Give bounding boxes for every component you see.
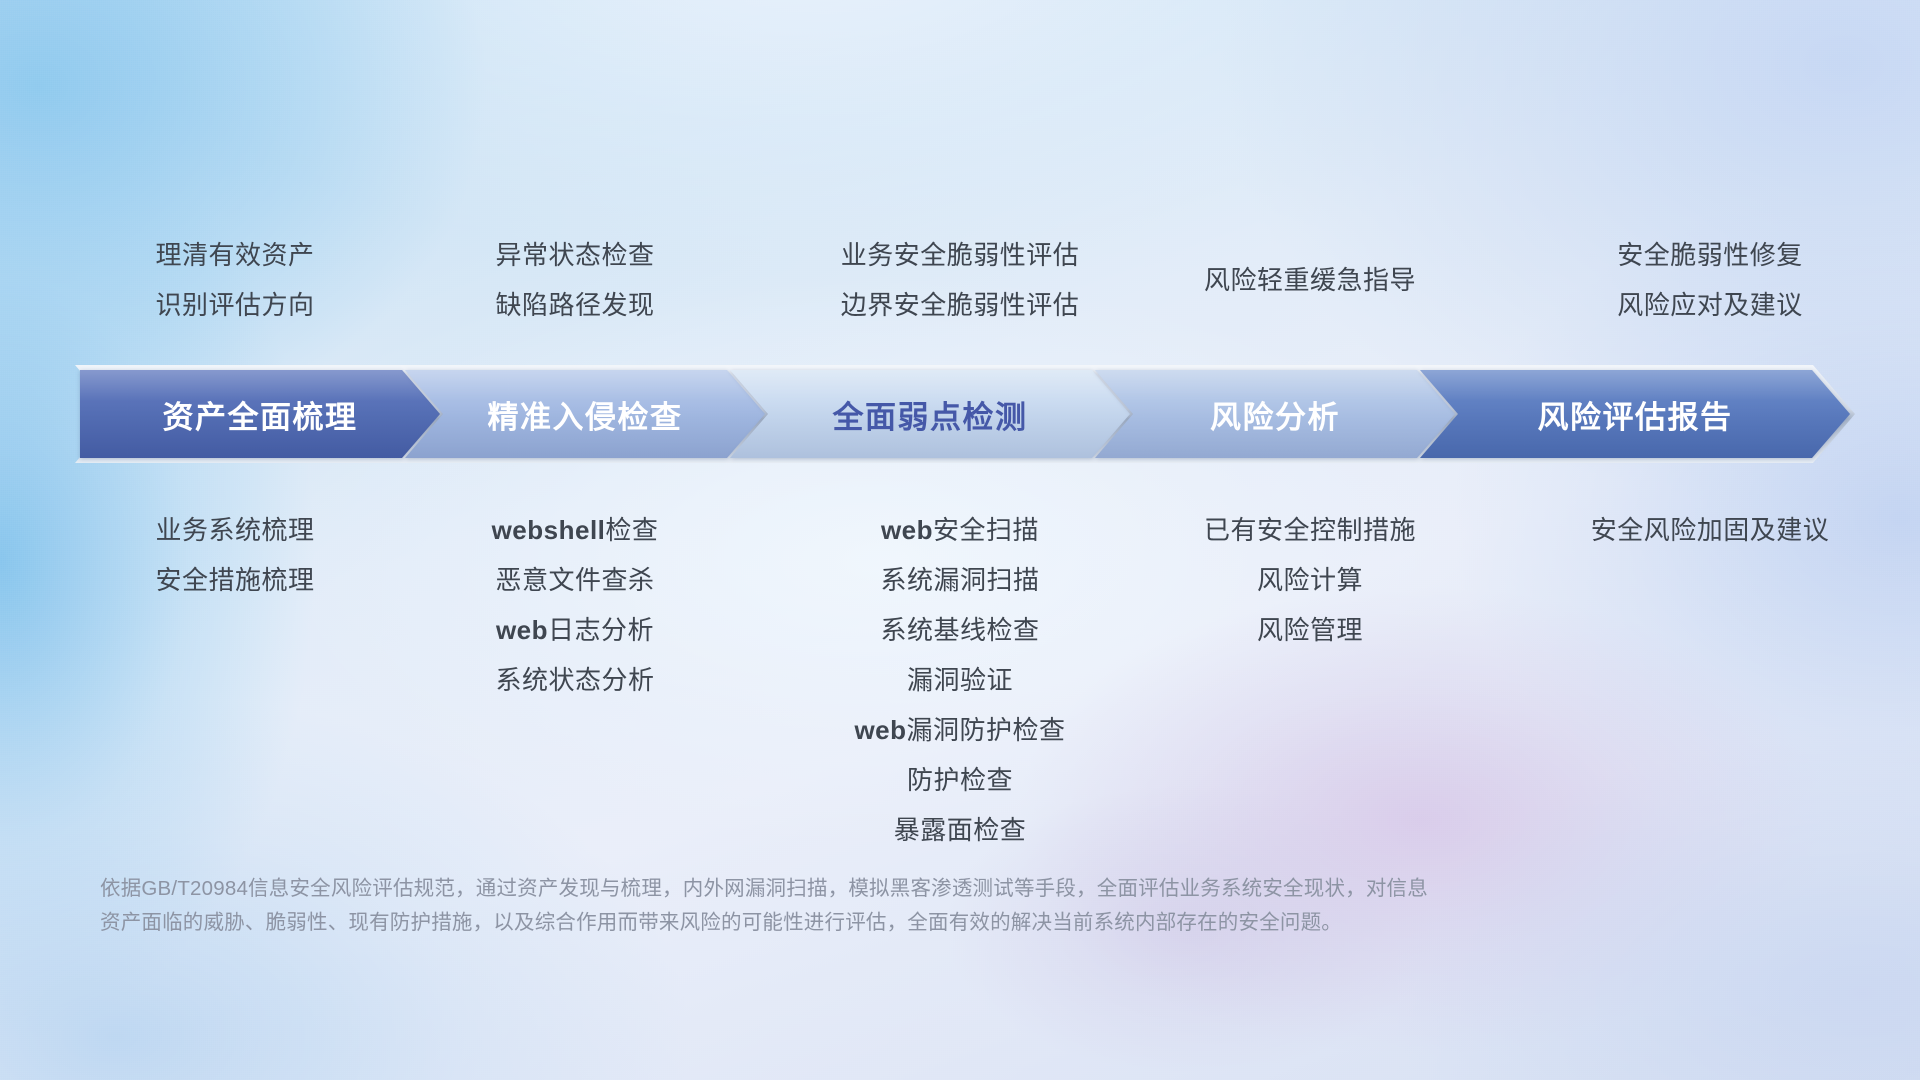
stage-4-arrow[interactable]: 风险分析 <box>1095 370 1455 458</box>
stage-4-bottom-item-0: 已有安全控制措施 <box>1100 505 1520 555</box>
stage-2-bottom-item-3: 系统状态分析 <box>375 655 775 705</box>
stage-4-label: 风险分析 <box>1210 392 1340 437</box>
stage-2-arrow[interactable]: 精准入侵检查 <box>405 370 765 458</box>
process-arrow-band: 资产全面梳理 精准入侵检查 全面弱点检测 风险分析 风险评估报告 <box>75 370 1855 458</box>
stage-2-bottom-items: webshell检查 恶意文件查杀 web日志分析 系统状态分析 <box>375 505 775 705</box>
stage-5-top-item-0: 安全脆弱性修复 <box>1500 230 1920 280</box>
stage-5-top-item-1: 风险应对及建议 <box>1500 280 1920 330</box>
stage-4-bottom-item-2: 风险管理 <box>1100 605 1520 655</box>
process-diagram: 理清有效资产 识别评估方向 异常状态检查 缺陷路径发现 业务安全脆弱性评估 边界… <box>0 0 1920 1080</box>
stage-5-arrow[interactable]: 风险评估报告 <box>1420 370 1850 458</box>
stage-3-bottom-item-6: 暴露面检查 <box>740 805 1180 855</box>
stage-5-top-items: 安全脆弱性修复 风险应对及建议 <box>1500 230 1920 330</box>
stage-2-top-item-0: 异常状态检查 <box>375 230 775 280</box>
stage-5-label: 风险评估报告 <box>1538 392 1733 437</box>
stage-4-bottom-items: 已有安全控制措施 风险计算 风险管理 <box>1100 505 1520 655</box>
stage-2-label: 精准入侵检查 <box>488 392 683 437</box>
stage-2-bottom-item-1: 恶意文件查杀 <box>375 555 775 605</box>
stage-4-bottom-item-1: 风险计算 <box>1100 555 1520 605</box>
stage-3-bottom-item-5: 防护检查 <box>740 755 1180 805</box>
stage-2-top-item-1: 缺陷路径发现 <box>375 280 775 330</box>
footer-line-2: 资产面临的威胁、脆弱性、现有防护措施，以及综合作用而带来风险的可能性进行评估，全… <box>100 906 1630 940</box>
stage-3-label: 全面弱点检测 <box>833 392 1028 437</box>
stage-1-arrow[interactable]: 资产全面梳理 <box>80 370 440 458</box>
stage-2-bottom-item-2: web日志分析 <box>375 605 775 655</box>
footer-description: 依据GB/T20984信息安全风险评估规范，通过资产发现与梳理，内外网漏洞扫描，… <box>100 872 1630 940</box>
stage-1-label: 资产全面梳理 <box>163 392 358 437</box>
stage-4-top-item-0: 风险轻重缓急指导 <box>1100 255 1520 305</box>
stage-3-arrow[interactable]: 全面弱点检测 <box>730 370 1130 458</box>
stage-3-bottom-item-3: 漏洞验证 <box>740 655 1180 705</box>
stage-2-top-items: 异常状态检查 缺陷路径发现 <box>375 230 775 330</box>
stage-4-top-items: 风险轻重缓急指导 <box>1100 255 1520 305</box>
stage-5-bottom-items: 安全风险加固及建议 <box>1500 505 1920 555</box>
footer-line-1: 依据GB/T20984信息安全风险评估规范，通过资产发现与梳理，内外网漏洞扫描，… <box>100 872 1630 906</box>
stage-3-bottom-item-4: web漏洞防护检查 <box>740 705 1180 755</box>
stage-2-bottom-item-0: webshell检查 <box>375 505 775 555</box>
stage-5-bottom-item-0: 安全风险加固及建议 <box>1500 505 1920 555</box>
